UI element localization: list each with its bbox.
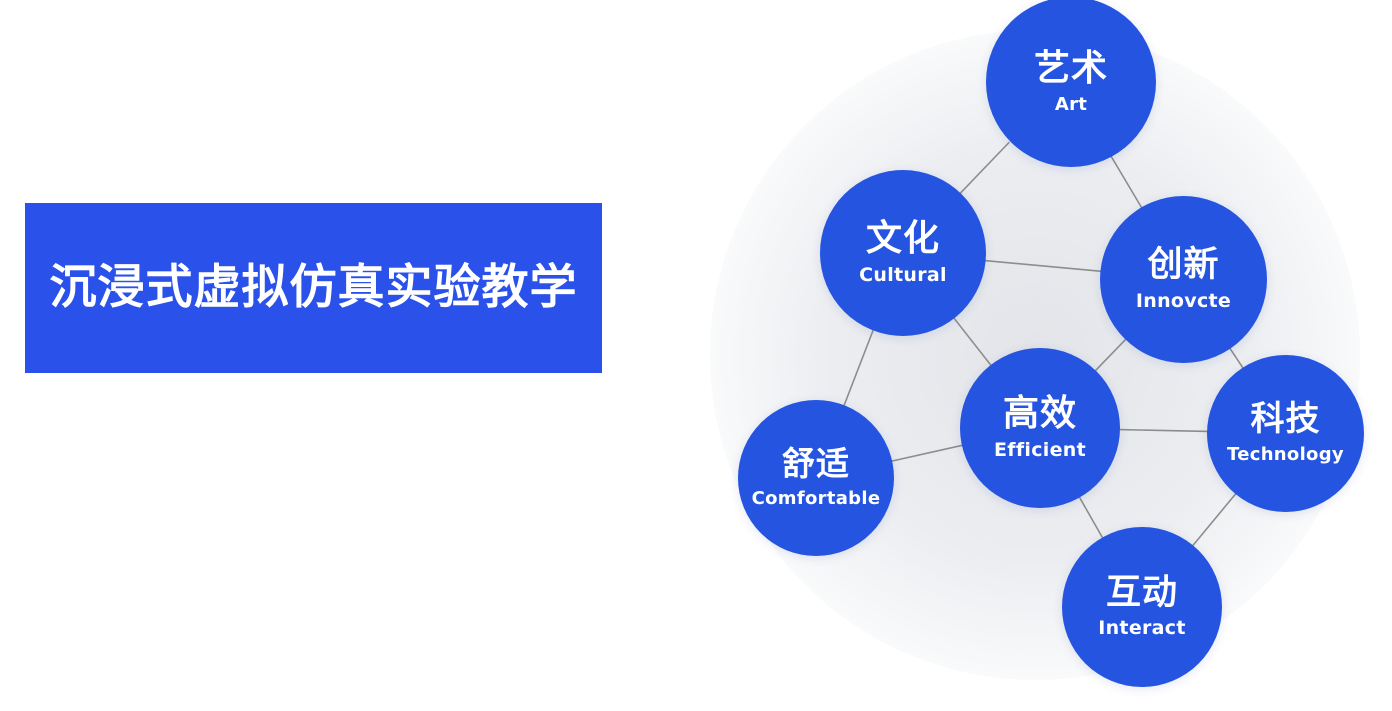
node-technology-label-en: Technology: [1227, 445, 1344, 465]
link-art-to-innovate: [1110, 154, 1142, 207]
link-cultural-to-innovate: [985, 261, 1102, 272]
node-art[interactable]: 艺术 Art: [986, 0, 1156, 167]
node-technology[interactable]: 科技 Technology: [1207, 355, 1364, 512]
node-comfortable-label-en: Comfortable: [752, 489, 881, 509]
node-cultural-label-en: Cultural: [859, 265, 947, 286]
node-cultural[interactable]: 文化 Cultural: [820, 170, 986, 336]
node-efficient-label-cn: 高效: [1003, 395, 1077, 433]
node-efficient[interactable]: 高效 Efficient: [960, 348, 1120, 508]
node-efficient-label-en: Efficient: [994, 440, 1086, 461]
node-innovate[interactable]: 创新 Innovcte: [1100, 196, 1267, 363]
slide-canvas: 沉浸式虚拟仿真实验教学 艺术 Art 文化 Cultural 创新 Innovc…: [0, 0, 1392, 711]
node-comfortable[interactable]: 舒适 Comfortable: [738, 400, 894, 556]
node-art-label-en: Art: [1055, 95, 1087, 115]
link-innovate-to-efficient: [1095, 339, 1126, 372]
link-efficient-to-interact: [1079, 497, 1103, 539]
link-cultural-to-comfortable: [844, 329, 874, 406]
node-art-label-cn: 艺术: [1034, 50, 1108, 88]
node-technology-label-cn: 科技: [1251, 402, 1321, 438]
link-efficient-to-comfortable: [891, 445, 963, 461]
node-interact-label-en: Interact: [1098, 618, 1186, 639]
node-comfortable-label-cn: 舒适: [782, 447, 850, 482]
node-interact-label-cn: 互动: [1106, 575, 1178, 612]
title-banner: 沉浸式虚拟仿真实验教学: [25, 203, 602, 373]
node-cultural-label-cn: 文化: [866, 220, 940, 258]
concept-network-diagram: 艺术 Art 文化 Cultural 创新 Innovcte 科技 Techno…: [680, 0, 1392, 711]
link-efficient-to-technology: [1119, 430, 1208, 432]
link-technology-to-interact: [1192, 493, 1236, 546]
link-innovate-to-technology: [1230, 348, 1243, 368]
node-innovate-label-en: Innovcte: [1136, 291, 1231, 312]
link-cultural-to-efficient: [954, 318, 992, 366]
page-title: 沉浸式虚拟仿真实验教学: [50, 261, 578, 315]
node-innovate-label-cn: 创新: [1147, 247, 1219, 284]
link-art-to-cultural: [960, 143, 1009, 194]
node-interact[interactable]: 互动 Interact: [1062, 527, 1222, 687]
